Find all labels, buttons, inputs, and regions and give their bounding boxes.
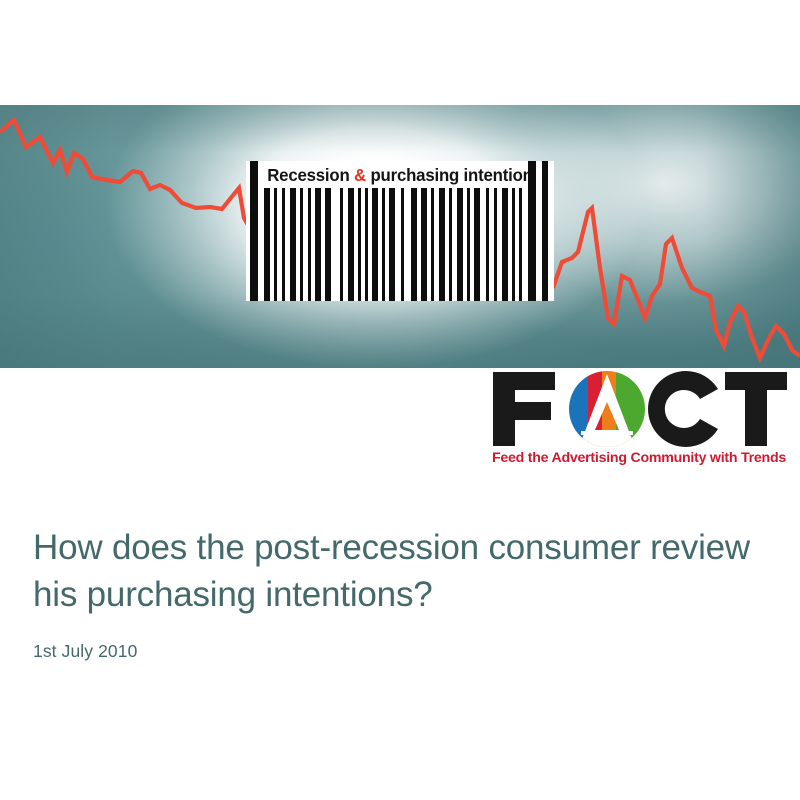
fact-logo-tagline: Feed the Advertising Community with Tren… bbox=[489, 450, 789, 466]
barcode-caption: Recession & purchasing intention bbox=[252, 165, 548, 189]
chart-series-left bbox=[0, 120, 252, 232]
logo-letter-c bbox=[648, 371, 718, 447]
barcode-caption-ampersand: & bbox=[354, 165, 366, 185]
logo-letter-a-wheel bbox=[569, 371, 645, 447]
logo-letter-t bbox=[725, 372, 787, 446]
barcode-graphic: Recession & purchasing intention bbox=[246, 161, 554, 301]
title-block: How does the post-recession consumer rev… bbox=[33, 524, 763, 662]
fact-logo-mark bbox=[489, 368, 789, 450]
chart-series-right bbox=[553, 208, 800, 358]
slide-page: { "slide": { "title": "How does the post… bbox=[0, 0, 800, 800]
fact-logo: Feed the Advertising Community with Tren… bbox=[489, 368, 789, 476]
page-title: How does the post-recession consumer rev… bbox=[33, 524, 763, 618]
barcode-caption-suffix: purchasing intention bbox=[366, 165, 533, 185]
hero-banner: Recession & purchasing intention bbox=[0, 105, 800, 368]
logo-letter-f bbox=[493, 372, 555, 446]
barcode-bars bbox=[246, 188, 554, 301]
barcode-caption-prefix: Recession bbox=[267, 165, 354, 185]
page-date: 1st July 2010 bbox=[33, 640, 763, 662]
